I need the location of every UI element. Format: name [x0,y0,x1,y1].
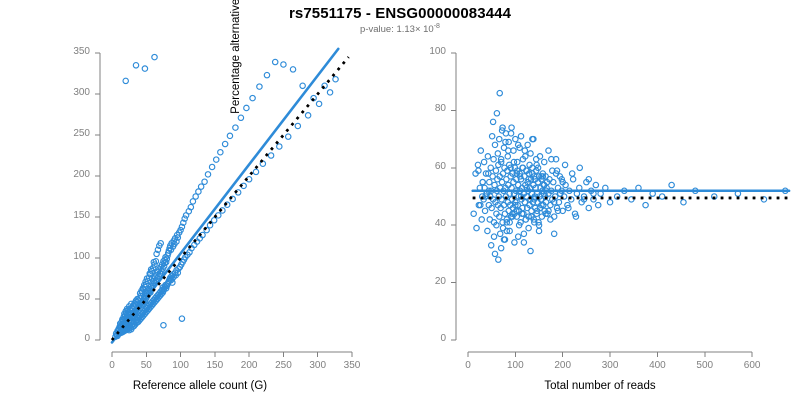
data-point [511,159,516,164]
data-point [537,154,542,159]
data-point [503,131,508,136]
data-point [300,83,305,88]
data-point [333,77,338,82]
data-point [536,228,541,233]
data-point [485,228,490,233]
data-point [512,240,517,245]
data-point [542,159,547,164]
data-point [546,148,551,153]
data-point [492,182,497,187]
data-point [481,159,486,164]
data-point [290,67,295,72]
data-point [482,208,487,213]
panel-right-scatter: 0204060801000100200300400500600Total num… [400,0,800,400]
x-tick-label: 500 [680,360,730,371]
x-axis-title: Total number of reads [400,380,800,392]
data-point [142,66,147,71]
data-point [485,154,490,159]
data-point [250,95,255,100]
data-point [681,200,686,205]
data-point [498,245,503,250]
data-point [474,225,479,230]
data-point [508,131,513,136]
y-tick-label: 40 [400,218,446,229]
data-point [562,162,567,167]
data-point [264,72,269,77]
data-point [478,148,483,153]
data-point [471,211,476,216]
data-point [570,177,575,182]
regression-line [112,49,338,343]
data-point [506,148,511,153]
data-point [551,179,556,184]
data-point [494,111,499,116]
data-point [316,101,321,106]
x-tick-label: 600 [727,360,777,371]
data-point [198,184,203,189]
data-point [489,243,494,248]
data-point [123,78,128,83]
data-point [480,179,485,184]
data-point [497,136,502,141]
data-point [179,316,184,321]
y-tick-label: 150 [44,210,90,221]
data-point [586,205,591,210]
data-point [268,153,273,158]
data-point [521,231,526,236]
data-point [202,179,207,184]
data-point [305,113,310,118]
data-point [511,148,516,153]
x-tick-label: 300 [585,360,635,371]
panel-left-scatter: 0501001502002503003500501001502002503003… [0,0,400,400]
x-axis-title: Reference allele count (G) [0,380,400,392]
y-tick-label: 300 [44,87,90,98]
data-point [522,148,527,153]
figure-root: rs7551175 - ENSG00000083444 p-value: 1.1… [0,0,800,400]
x-tick-label: 200 [538,360,588,371]
data-point [497,90,502,95]
y-tick-label: 50 [44,292,90,303]
data-point [593,182,598,187]
data-point [492,251,497,256]
data-point [479,217,484,222]
y-tick-label: 100 [44,251,90,262]
y-tick-label: 60 [400,161,446,172]
data-point [327,90,332,95]
data-point [214,157,219,162]
data-point [152,54,157,59]
data-point [528,151,533,156]
x-tick-label: 100 [490,360,540,371]
data-point [521,240,526,245]
data-point [643,202,648,207]
data-point [515,234,520,239]
data-point [295,123,300,128]
y-tick-label: 80 [400,103,446,114]
data-point [569,171,574,176]
data-point [161,323,166,328]
data-point [281,62,286,67]
data-point [491,156,496,161]
data-point [503,139,508,144]
data-point [518,134,523,139]
data-point [607,200,612,205]
y-tick-label: 100 [400,46,446,57]
right-plot-canvas [400,0,800,400]
data-point [286,134,291,139]
data-point [659,194,664,199]
data-point [505,154,510,159]
y-tick-label: 0 [44,333,90,344]
data-point [244,105,249,110]
data-point [487,179,492,184]
y-tick-label: 350 [44,46,90,57]
data-point [209,164,214,169]
data-point [492,142,497,147]
data-point [528,248,533,253]
data-point [488,165,493,170]
x-tick-label: 350 [327,360,377,371]
data-point [526,225,531,230]
data-point [489,134,494,139]
data-point [253,169,258,174]
data-point [257,84,262,89]
data-point [496,257,501,262]
x-tick-label: 400 [632,360,682,371]
x-tick-label: 0 [443,360,493,371]
data-point [490,119,495,124]
y-axis-title: Percentage alternative (A) [230,0,242,197]
data-point [211,218,216,223]
data-point [525,142,530,147]
data-point [669,182,674,187]
y-tick-label: 200 [44,169,90,180]
y-tick-label: 20 [400,276,446,287]
data-point [222,141,227,146]
data-point [493,168,498,173]
data-point [133,63,138,68]
data-point [277,144,282,149]
data-point [495,151,500,156]
data-point [577,165,582,170]
scatter-points [471,90,788,262]
data-point [548,217,553,222]
data-point [205,172,210,177]
data-point [498,231,503,236]
data-point [551,231,556,236]
data-point [596,202,601,207]
y-tick-label: 0 [400,333,446,344]
data-point [509,125,514,130]
data-point [475,162,480,167]
data-point [513,136,518,141]
y-tick-label: 250 [44,128,90,139]
data-point [218,150,223,155]
data-point [273,59,278,64]
data-point [491,234,496,239]
